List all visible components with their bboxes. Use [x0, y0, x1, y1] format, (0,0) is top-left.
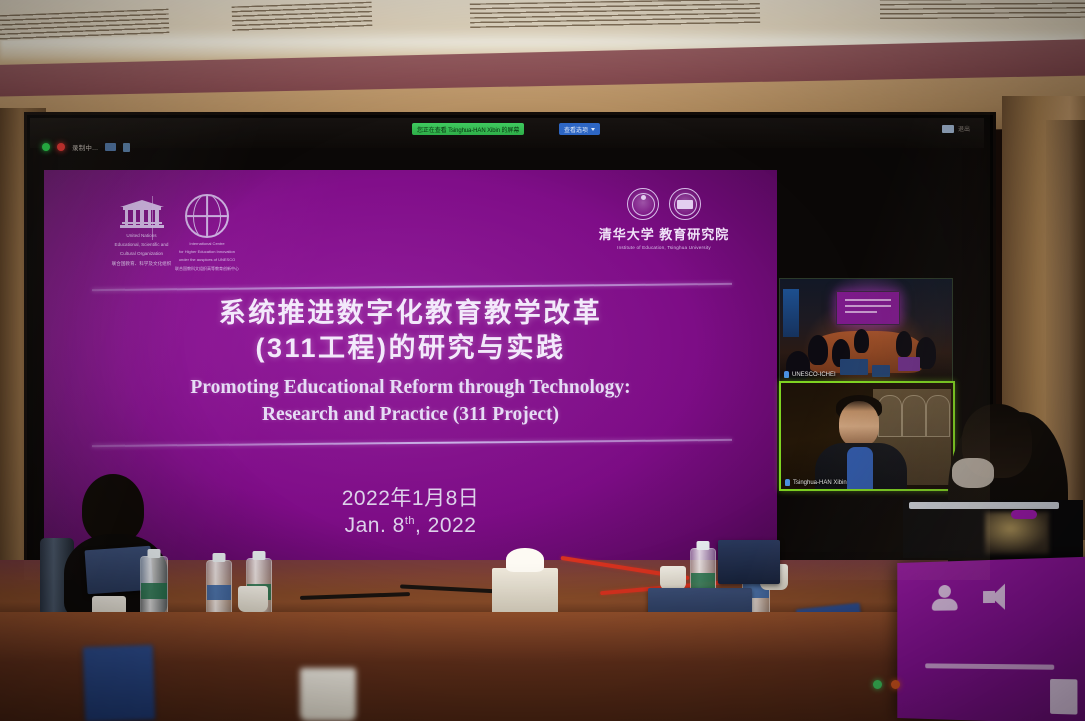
orange-led-icon	[891, 680, 900, 689]
ceiling-vent	[232, 2, 373, 33]
view-options-label: 查看选项	[564, 125, 588, 134]
laptop-screen-icons	[931, 583, 1013, 610]
recording-label: 录制中...	[72, 142, 98, 152]
speaker-icon[interactable]	[983, 583, 1013, 610]
connection-status-icon	[42, 143, 50, 151]
exit-icon[interactable]	[942, 125, 954, 133]
room-video-feed: UNESCO-ICHEI	[780, 279, 952, 381]
ichei-caption-3: under the auspices of UNESCO	[164, 257, 250, 262]
laptop-upper-display	[903, 500, 1083, 558]
share-banner-label: 您正在查看 Tsinghua-HAN Xibin 的屏幕	[417, 125, 519, 134]
laptop-status-lights	[873, 680, 900, 689]
foreground-laptop[interactable]	[885, 500, 1085, 721]
tile-label-text: Tsinghua-HAN Xibin	[793, 480, 847, 486]
participant-icon[interactable]	[931, 585, 958, 611]
slide-date-block: 2022年1月8日 Jan. 8th, 2022	[44, 482, 777, 538]
date-en-prefix: Jan. 8	[345, 514, 405, 537]
laptop-screen-chip	[1050, 679, 1077, 715]
room-projector-screen	[836, 291, 900, 325]
exit-label: 退出	[958, 124, 970, 133]
tile-label-room: UNESCO-ICHEI	[784, 371, 836, 378]
zoom-toolbar[interactable]: 录制中... 您正在查看 Tsinghua-HAN Xibin 的屏幕 查看选项…	[30, 118, 984, 148]
conference-room-photo: 录制中... 您正在查看 Tsinghua-HAN Xibin 的屏幕 查看选项…	[0, 0, 1085, 721]
video-tile-room[interactable]: UNESCO-ICHEI	[779, 278, 953, 382]
paper-cup	[238, 586, 268, 612]
ichei-caption-2: for Higher Education Innovation	[164, 249, 250, 254]
mic-icon	[785, 479, 790, 486]
presentation-slide: United Nations Educational, Scientific a…	[44, 170, 777, 570]
room-banner	[783, 289, 799, 337]
speaker-shirt	[847, 447, 873, 491]
tile-label-text: UNESCO-ICHEI	[792, 372, 836, 378]
video-tile-active-speaker[interactable]: Tsinghua-HAN Xibin	[779, 381, 955, 491]
tsinghua-seal-icon	[589, 188, 739, 220]
zoom-status-group: 录制中...	[42, 142, 130, 152]
chevron-down-icon	[591, 128, 595, 131]
logo-divider	[152, 196, 153, 240]
date-en: Jan. 8th, 2022	[44, 514, 777, 538]
face-mask	[952, 458, 994, 488]
date-en-sup: th	[405, 515, 415, 527]
tsinghua-logo: 清华大学 教育研究院 Institute of Education, Tsing…	[589, 188, 739, 250]
title-cn-line1: 系统推进数字化教育教学改革	[44, 296, 777, 331]
ichei-globe-icon	[185, 194, 229, 238]
table-laptop	[718, 540, 780, 584]
toolbar-chip-icon[interactable]	[123, 143, 130, 152]
screen-share-banner: 您正在查看 Tsinghua-HAN Xibin 的屏幕	[412, 123, 524, 135]
title-en-line1: Promoting Educational Reform through Tec…	[44, 374, 777, 401]
title-en-line2: Research and Practice (311 Project)	[44, 401, 777, 428]
name-placard-foreground	[83, 645, 156, 721]
laptop-screen-divider	[925, 663, 1054, 669]
ichei-logo: International Centre for Higher Educatio…	[164, 194, 250, 271]
record-icon[interactable]	[57, 143, 65, 151]
tile-label-speaker: Tsinghua-HAN Xibin	[785, 479, 847, 486]
speaker-head	[839, 401, 879, 447]
paper-cup	[660, 566, 686, 590]
ceiling-vent	[470, 0, 760, 30]
unesco-temple-icon	[120, 200, 164, 230]
slide-title-block: 系统推进数字化教育教学改革 (311工程)的研究与实践 Promoting Ed…	[44, 296, 777, 429]
green-led-icon	[873, 680, 882, 689]
paper-cup-foreground	[300, 668, 356, 721]
mic-icon	[784, 371, 789, 378]
ichei-caption-cn: 联合国教科文组织高等教育创新中心	[164, 266, 250, 271]
tsinghua-name-cn: 清华大学 教育研究院	[589, 224, 739, 243]
date-cn: 2022年1月8日	[44, 482, 777, 512]
view-options-button[interactable]: 查看选项	[559, 123, 600, 135]
tsinghua-name-en: Institute of Education, Tsinghua Univers…	[589, 245, 739, 250]
water-bottle	[206, 560, 232, 620]
speaker-video-feed: Tsinghua-HAN Xibin	[781, 383, 953, 489]
ceiling-vent	[880, 0, 1085, 21]
date-en-suffix: , 2022	[415, 514, 476, 537]
ichei-caption-1: International Centre	[164, 241, 250, 246]
title-cn-line2: (311工程)的研究与实践	[44, 331, 777, 366]
exit-group[interactable]: 退出	[942, 124, 970, 133]
water-bottle	[140, 556, 168, 620]
laptop-screen[interactable]	[897, 557, 1085, 721]
toolbar-chip-icon[interactable]	[105, 143, 116, 151]
